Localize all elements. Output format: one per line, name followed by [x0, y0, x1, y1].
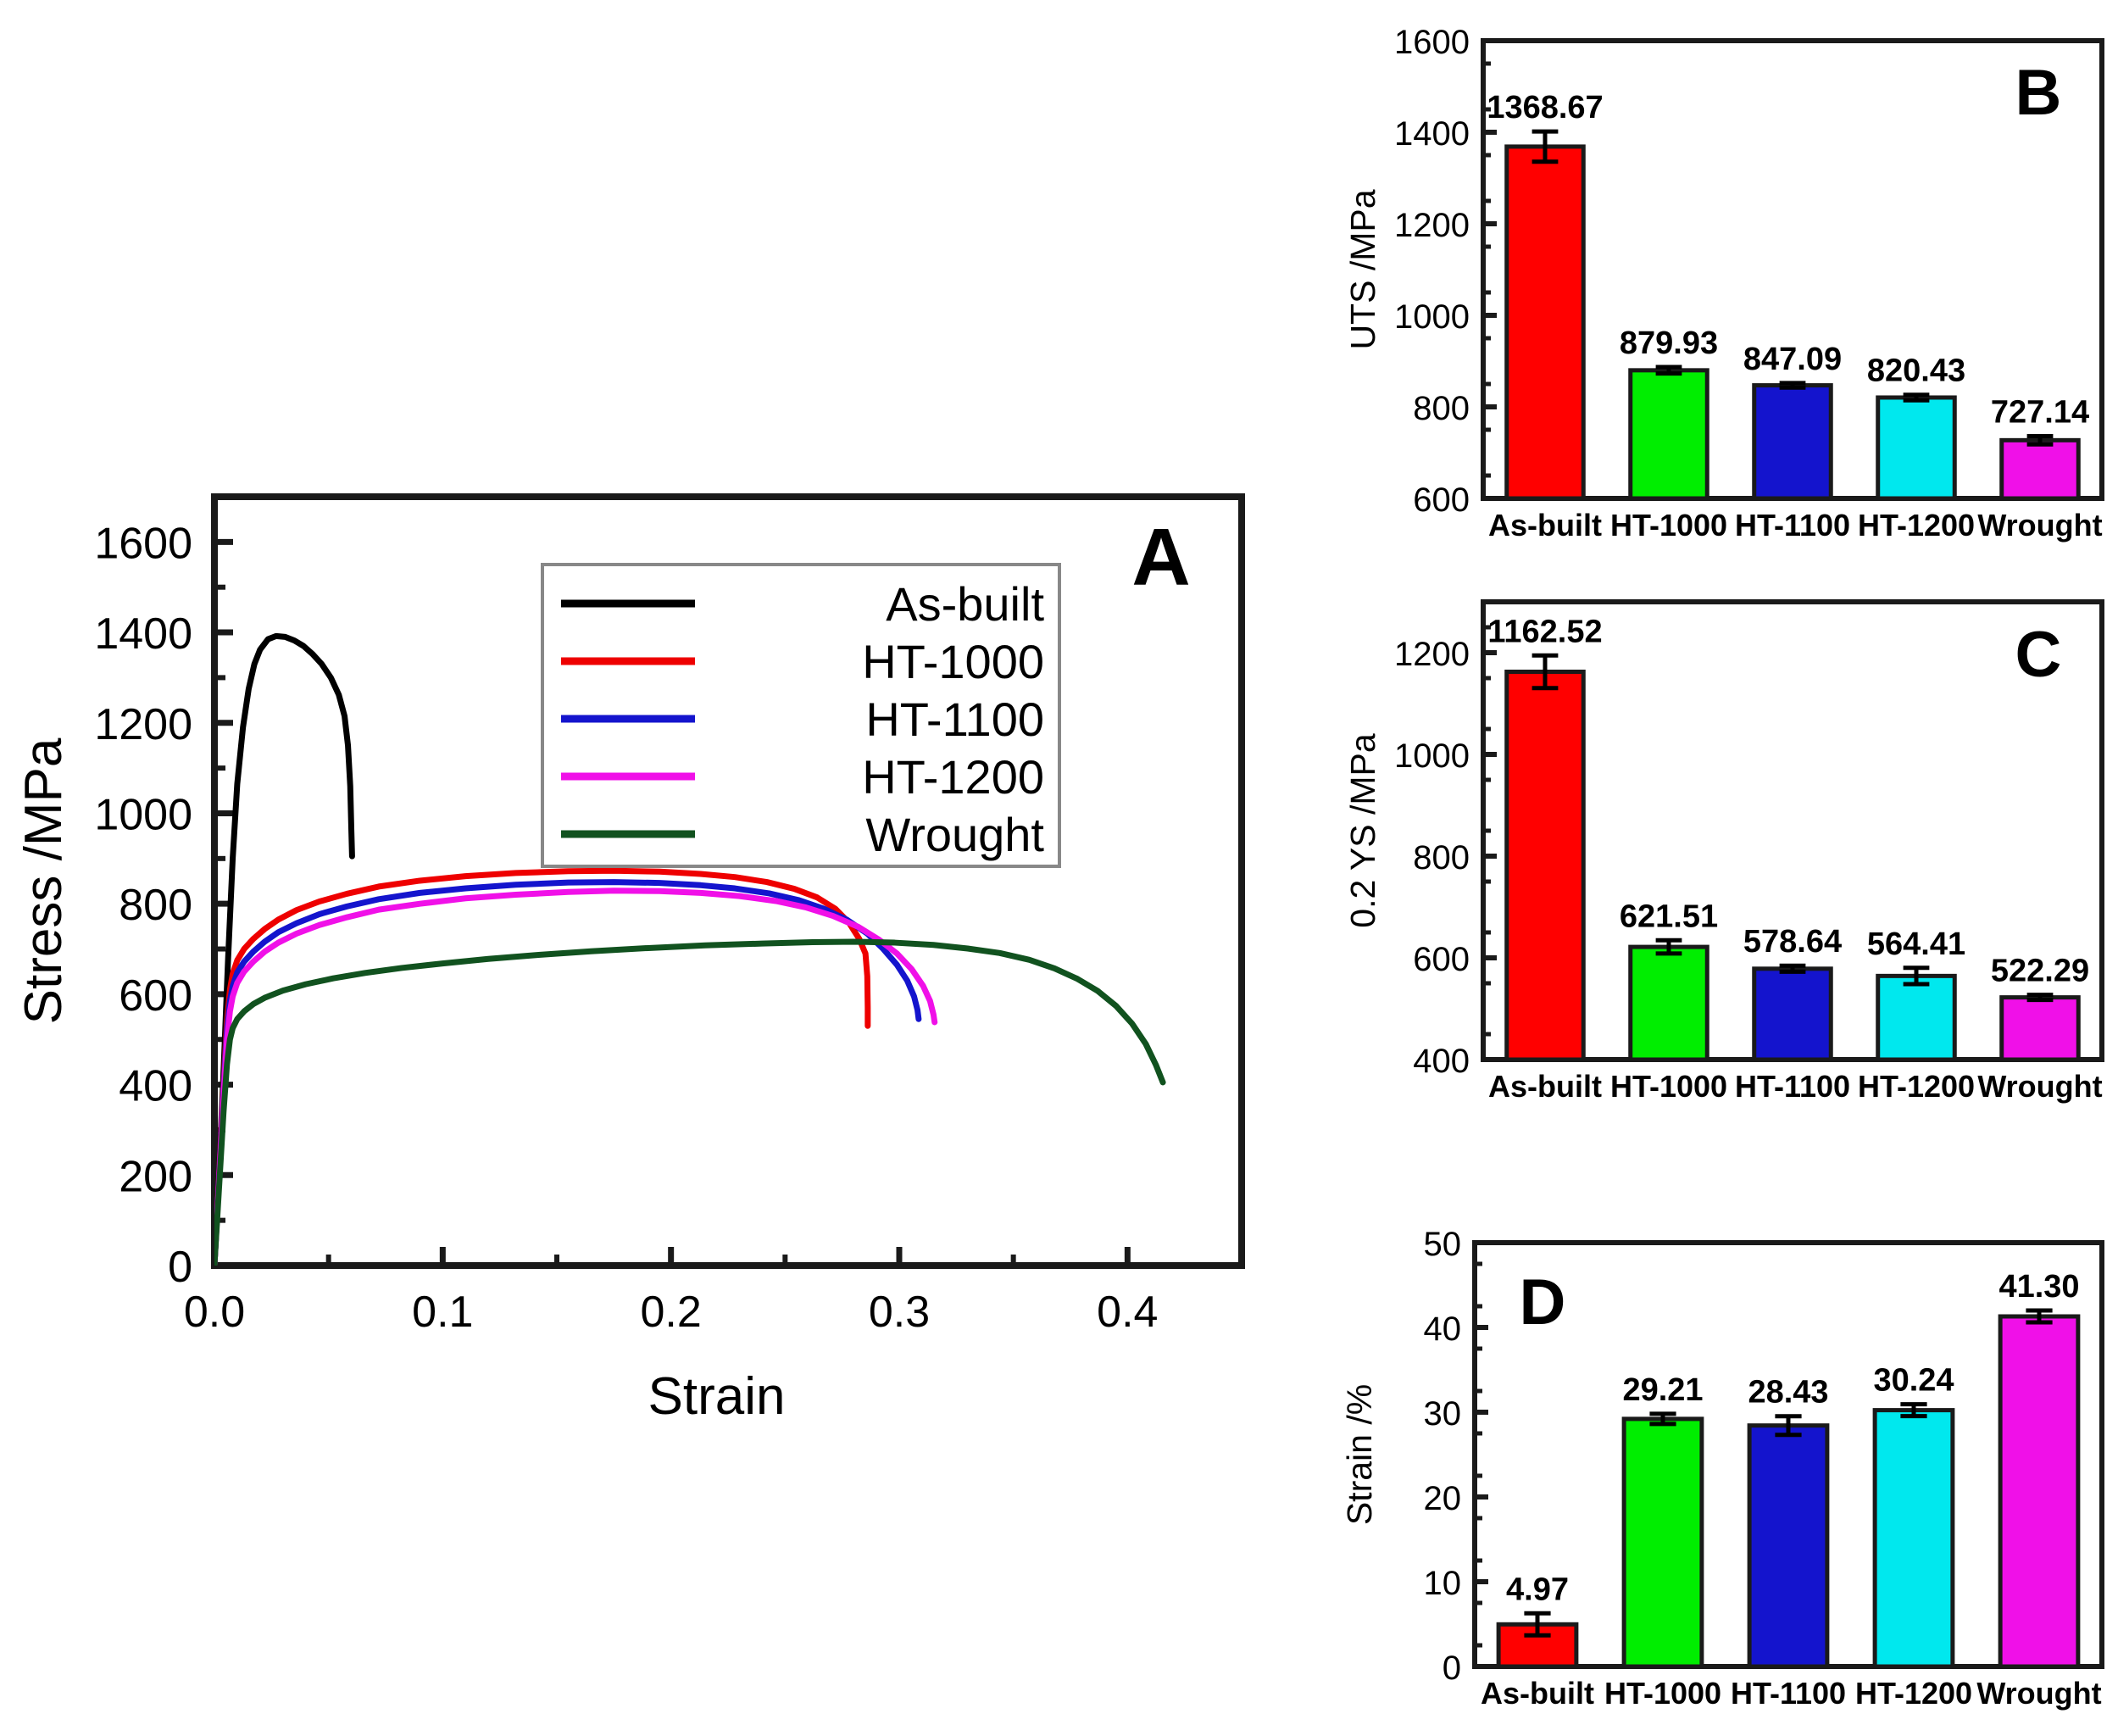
x-tick-label: 0.0	[184, 1288, 245, 1337]
curve-wrought	[214, 942, 1163, 1266]
y-tick-label: 1600	[94, 519, 192, 568]
y-tick-label: 1200	[94, 700, 192, 749]
category-label-wrought: Wrought	[1976, 1676, 2101, 1711]
curve-as-built	[214, 636, 352, 1266]
y-tick-label: 1400	[1394, 115, 1470, 153]
y-axis-title: Strain /%	[1340, 1384, 1379, 1525]
bar-ht-1200	[1878, 398, 1955, 498]
bar-ht-1100	[1754, 386, 1832, 498]
category-label-as-built: As-built	[1488, 1069, 1602, 1104]
panel-letter-b: B	[2015, 57, 2062, 129]
y-tick-label: 0	[1443, 1650, 1461, 1687]
stress-strain-chart: 020040060080010001200140016000.00.10.20.…	[0, 0, 1322, 1551]
legend-label-ht-1200: HT-1200	[862, 750, 1044, 804]
category-label-as-built: As-built	[1481, 1676, 1594, 1711]
bar-ht-1000	[1624, 1419, 1702, 1666]
y-axis-title: 0.2 YS /MPa	[1343, 733, 1382, 928]
bar-wrought	[2002, 440, 2079, 498]
y-tick-label: 1000	[1394, 298, 1470, 336]
bar-value-label: 727.14	[1991, 394, 2089, 430]
category-label-ht-1200: HT-1200	[1855, 1676, 1972, 1711]
y-tick-label: 1200	[1394, 207, 1470, 244]
curve-ht-1200	[214, 891, 935, 1266]
legend-label-ht-1100: HT-1100	[865, 693, 1044, 746]
y-axis-title: UTS /MPa	[1343, 189, 1382, 349]
panel-c-yield-strength-bar-chart: 400600800100012000.2 YS /MPa1162.52As-bu…	[1322, 583, 2118, 1134]
panel-d-strain-bar-chart: 01020304050Strain /%4.97As-built29.21HT-…	[1322, 1127, 2118, 1736]
bar-ht-1000	[1631, 947, 1708, 1060]
bar-as-built	[1507, 671, 1584, 1060]
panel-a-stress-strain-curves: 020040060080010001200140016000.00.10.20.…	[0, 0, 1322, 1551]
category-label-as-built: As-built	[1488, 508, 1602, 542]
bar-ht-1100	[1754, 969, 1832, 1060]
bar-value-label: 879.93	[1620, 325, 1718, 361]
y-tick-label: 400	[119, 1062, 192, 1111]
bar-as-built	[1507, 147, 1584, 498]
y-tick-label: 1600	[1394, 24, 1470, 61]
category-label-ht-1000: HT-1000	[1604, 1676, 1721, 1711]
y-tick-label: 600	[1413, 941, 1470, 978]
legend-label-wrought: Wrought	[865, 808, 1044, 861]
bar-value-label: 522.29	[1991, 954, 2089, 989]
y-tick-label: 800	[1413, 839, 1470, 876]
bar-value-label: 1368.67	[1487, 90, 1603, 125]
legend-label-ht-1000: HT-1000	[862, 635, 1044, 688]
bar-value-label: 28.43	[1748, 1375, 1828, 1410]
y-tick-label: 1000	[1394, 737, 1470, 775]
bar-wrought	[2000, 1316, 2078, 1666]
y-tick-label: 600	[119, 971, 192, 1021]
bar-wrought	[2002, 998, 2079, 1060]
y-tick-label: 400	[1413, 1043, 1470, 1080]
bar-value-label: 30.24	[1873, 1363, 1954, 1399]
y-tick-label: 800	[1413, 390, 1470, 427]
y-tick-label: 40	[1424, 1310, 1462, 1348]
y-tick-label: 0	[168, 1243, 192, 1292]
x-tick-label: 0.3	[869, 1288, 930, 1337]
bar-ht-1200	[1875, 1410, 1953, 1666]
bar-ht-1100	[1749, 1426, 1827, 1666]
category-label-ht-1200: HT-1200	[1858, 508, 1975, 542]
y-tick-label: 600	[1413, 481, 1470, 519]
bar-value-label: 578.64	[1743, 924, 1842, 960]
bar-value-label: 847.09	[1743, 342, 1842, 377]
category-label-ht-1000: HT-1000	[1610, 1069, 1727, 1104]
x-tick-label: 0.4	[1097, 1288, 1158, 1337]
y-tick-label: 800	[119, 881, 192, 930]
uts-bar-chart: 6008001000120014001600UTS /MPa1368.67As-…	[1322, 0, 2118, 585]
bar-value-label: 4.97	[1506, 1572, 1569, 1607]
y-tick-label: 10	[1424, 1565, 1462, 1602]
category-label-ht-1200: HT-1200	[1858, 1069, 1975, 1104]
panel-b-uts-bar-chart: 6008001000120014001600UTS /MPa1368.67As-…	[1322, 0, 2118, 585]
x-axis-title: Strain	[648, 1367, 786, 1426]
y-tick-label: 30	[1424, 1395, 1462, 1433]
y-tick-label: 1000	[94, 790, 192, 839]
y-tick-label: 200	[119, 1152, 192, 1201]
bar-value-label: 1162.52	[1487, 614, 1602, 649]
panel-letter-d: D	[1520, 1266, 1566, 1338]
y-tick-label: 1400	[94, 609, 192, 659]
bar-value-label: 621.51	[1620, 899, 1718, 934]
bar-ht-1200	[1878, 976, 1955, 1060]
y-tick-label: 50	[1424, 1226, 1462, 1263]
bar-ht-1000	[1631, 370, 1708, 498]
strain-bar-chart: 01020304050Strain /%4.97As-built29.21HT-…	[1322, 1127, 2118, 1736]
category-label-ht-1100: HT-1100	[1735, 1069, 1850, 1104]
yield-strength-bar-chart: 400600800100012000.2 YS /MPa1162.52As-bu…	[1322, 583, 2118, 1134]
panel-letter-a: A	[1131, 512, 1190, 603]
legend-label-as-built: As-built	[886, 577, 1044, 631]
bar-value-label: 564.41	[1867, 926, 1965, 962]
x-tick-label: 0.2	[641, 1288, 702, 1337]
x-tick-label: 0.1	[412, 1288, 473, 1337]
category-label-ht-1100: HT-1100	[1735, 508, 1850, 542]
bar-value-label: 29.21	[1622, 1372, 1703, 1408]
panel-letter-c: C	[2015, 619, 2062, 691]
y-tick-label: 1200	[1394, 636, 1470, 673]
bar-value-label: 820.43	[1867, 353, 1965, 389]
y-axis-title: Stress /MPa	[14, 737, 73, 1024]
category-label-wrought: Wrought	[1977, 1069, 2102, 1104]
y-tick-label: 20	[1424, 1480, 1462, 1517]
category-label-ht-1000: HT-1000	[1610, 508, 1727, 542]
category-label-wrought: Wrought	[1977, 508, 2102, 542]
category-label-ht-1100: HT-1100	[1731, 1676, 1846, 1711]
bar-value-label: 41.30	[1998, 1269, 2079, 1305]
